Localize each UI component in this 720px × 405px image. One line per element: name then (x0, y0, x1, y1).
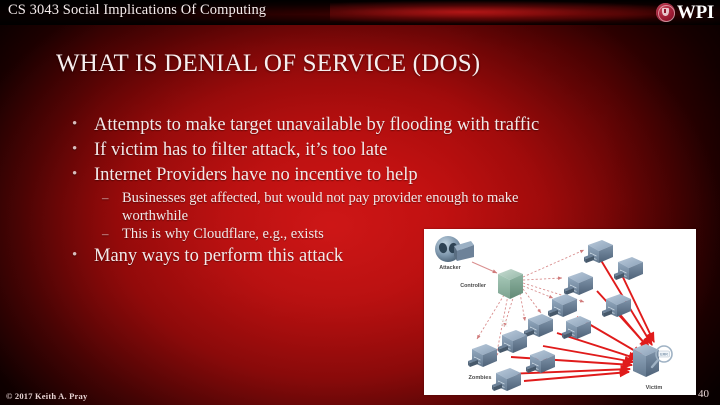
bullet-text: Internet Providers have no incentive to … (94, 165, 418, 185)
victim-label: Victim (646, 385, 663, 391)
ddos-diagram-image: Attacker Controller (424, 229, 696, 395)
wpi-seal-icon (656, 3, 675, 22)
slide-title: WHAT IS DENIAL OF SERVICE (DOS) (56, 50, 676, 78)
attacker-label: Attacker (439, 265, 461, 271)
bullet-item: • Attempts to make target unavailable by… (70, 113, 670, 138)
dash-marker-icon: – (102, 225, 109, 243)
sub-bullet-item: – Businesses get affected, but would not… (70, 189, 670, 225)
bullet-marker-icon: • (72, 243, 77, 268)
dash-marker-icon: – (102, 189, 109, 207)
sub-bullet-text: Businesses get affected, but would not p… (122, 190, 518, 206)
bullet-text: Many ways to perform this attack (94, 246, 343, 266)
wpi-wordmark: WPI (677, 3, 714, 22)
zombies-label: Zombies (468, 375, 491, 381)
bullet-text: If victim has to filter attack, it’s too… (94, 140, 387, 160)
bullet-marker-icon: • (72, 162, 77, 187)
bullet-item: • Internet Providers have no incentive t… (70, 163, 670, 188)
sub-bullet-text-line2: worthwhile (122, 207, 670, 225)
sub-bullet-text: This is why Cloudflare, e.g., exists (122, 226, 324, 242)
bullet-item: • If victim has to filter attack, it’s t… (70, 138, 670, 163)
bullet-text: Attempts to make target unavailable by f… (94, 115, 539, 135)
copyright-notice: © 2017 Keith A. Pray (6, 391, 87, 401)
bullet-marker-icon: • (72, 112, 77, 137)
bullet-marker-icon: • (72, 137, 77, 162)
wpi-seal-shield (662, 8, 669, 16)
svg-text:ERR: ERR (660, 352, 668, 356)
presentation-slide: CS 3043 Social Implications Of Computing… (0, 0, 720, 405)
controller-label: Controller (460, 283, 487, 289)
course-title: CS 3043 Social Implications Of Computing (8, 2, 266, 19)
slide-header-bar: CS 3043 Social Implications Of Computing… (0, 0, 720, 25)
wpi-logo: WPI (656, 1, 714, 24)
slide-page-number: 40 (698, 388, 709, 400)
